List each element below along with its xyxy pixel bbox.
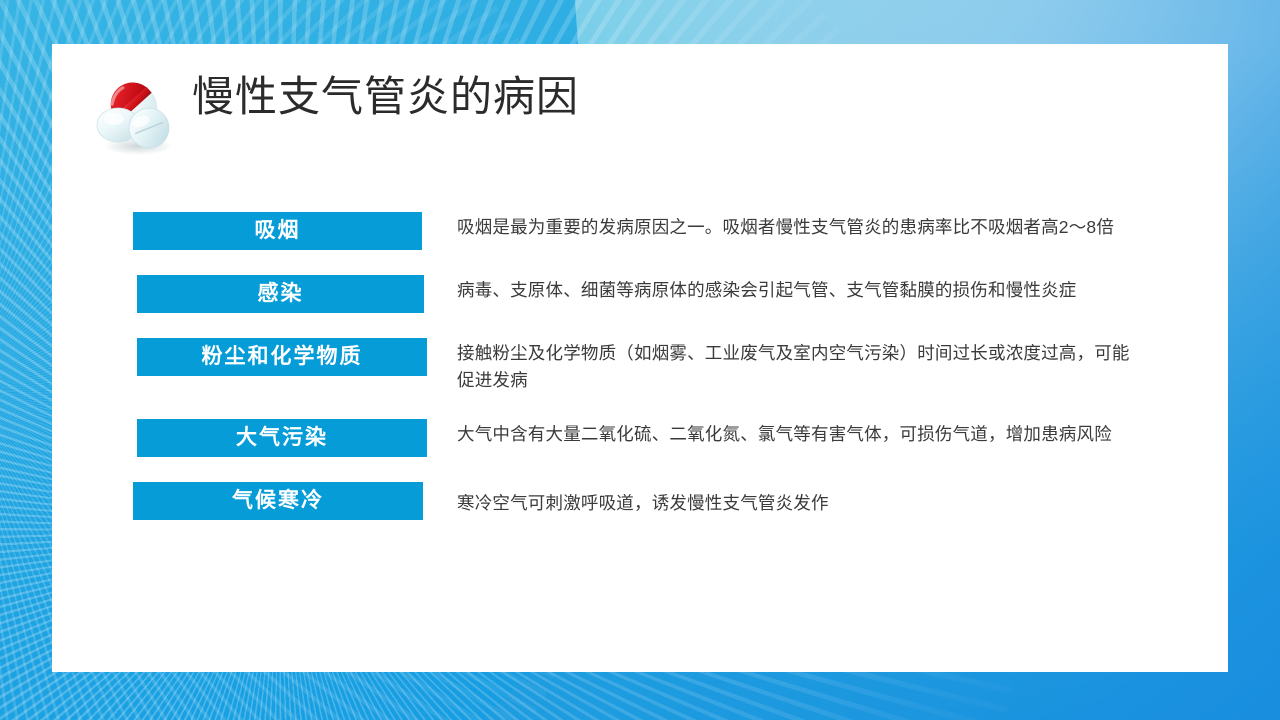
cause-label-wrap: 气候寒冷 [52, 482, 457, 520]
cause-label-dust-chemicals[interactable]: 粉尘和化学物质 [137, 338, 427, 376]
cause-row: 气候寒冷 寒冷空气可刺激呼吸道，诱发慢性支气管炎发作 [52, 482, 1228, 520]
cause-label-wrap: 粉尘和化学物质 [52, 338, 457, 376]
slide-root: 慢性支气管炎的病因 吸烟 吸烟是最为重要的发病原因之一。吸烟者慢性支气管炎的患病… [0, 0, 1280, 720]
cause-row: 大气污染 大气中含有大量二氧化硫、二氧化氮、氯气等有害气体，可损伤气道，增加患病… [52, 419, 1228, 457]
cause-label-wrap: 吸烟 [52, 212, 457, 250]
page-title: 慢性支气管炎的病因 [192, 68, 579, 128]
cause-description-infection: 病毒、支原体、细菌等病原体的感染会引起气管、支气管黏膜的损伤和慢性炎症 [457, 275, 1137, 304]
cause-label-infection[interactable]: 感染 [137, 275, 424, 313]
cause-description-air-pollution: 大气中含有大量二氧化硫、二氧化氮、氯气等有害气体，可损伤气道，增加患病风险 [457, 419, 1137, 448]
causes-list: 吸烟 吸烟是最为重要的发病原因之一。吸烟者慢性支气管炎的患病率比不吸烟者高2～8… [52, 212, 1228, 520]
cause-row: 感染 病毒、支原体、细菌等病原体的感染会引起气管、支气管黏膜的损伤和慢性炎症 [52, 275, 1228, 313]
cause-row: 吸烟 吸烟是最为重要的发病原因之一。吸烟者慢性支气管炎的患病率比不吸烟者高2～8… [52, 212, 1228, 250]
cause-label-air-pollution[interactable]: 大气污染 [137, 419, 427, 457]
cause-label-wrap: 大气污染 [52, 419, 457, 457]
cause-row: 粉尘和化学物质 接触粉尘及化学物质（如烟雾、工业废气及室内空气污染）时间过长或浓… [52, 338, 1228, 394]
content-card: 慢性支气管炎的病因 吸烟 吸烟是最为重要的发病原因之一。吸烟者慢性支气管炎的患病… [52, 44, 1228, 672]
cause-label-cold-climate[interactable]: 气候寒冷 [133, 482, 423, 520]
pill-capsule-icon [88, 70, 180, 156]
cause-description-cold-climate: 寒冷空气可刺激呼吸道，诱发慢性支气管炎发作 [457, 482, 1137, 517]
cause-description-dust-chemicals: 接触粉尘及化学物质（如烟雾、工业废气及室内空气污染）时间过长或浓度过高，可能促进… [457, 338, 1137, 394]
cause-label-wrap: 感染 [52, 275, 457, 313]
cause-label-smoking[interactable]: 吸烟 [133, 212, 422, 250]
cause-description-smoking: 吸烟是最为重要的发病原因之一。吸烟者慢性支气管炎的患病率比不吸烟者高2～8倍 [457, 212, 1137, 241]
slide-header: 慢性支气管炎的病因 [52, 44, 1228, 164]
